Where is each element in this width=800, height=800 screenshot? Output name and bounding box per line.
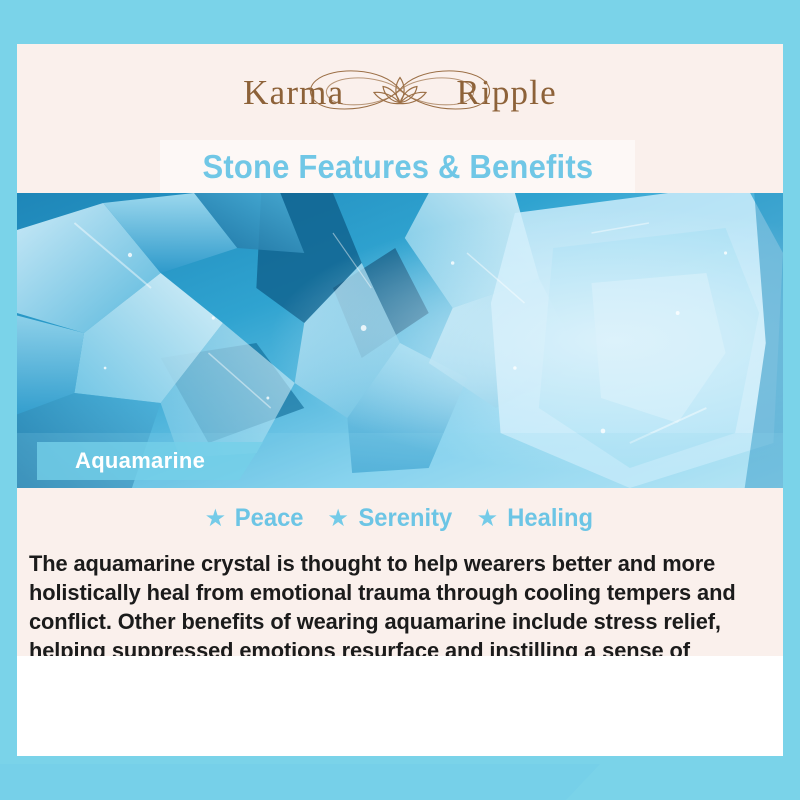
star-icon: ★ bbox=[477, 507, 499, 531]
keyword-item-healing: ★ Healing bbox=[477, 504, 596, 533]
star-icon: ★ bbox=[205, 507, 227, 531]
stone-name: Aquamarine bbox=[75, 448, 205, 474]
bottom-accent-bar bbox=[0, 764, 600, 800]
brand-header: Karma bbox=[17, 44, 783, 140]
keyword-label: Serenity bbox=[358, 504, 452, 533]
title-band: Stone Features & Benefits bbox=[17, 140, 783, 193]
keyword-item-peace: ★ Peace bbox=[205, 504, 306, 533]
poster-canvas: Karma bbox=[0, 0, 800, 800]
keyword-label: Healing bbox=[507, 504, 593, 533]
title-box: Stone Features & Benefits bbox=[160, 140, 635, 193]
brand-logo: Karma bbox=[243, 75, 557, 110]
content-card: Karma bbox=[17, 44, 783, 756]
aquamarine-crystal-photo: Aquamarine bbox=[17, 193, 783, 488]
star-icon: ★ bbox=[327, 507, 349, 531]
keyword-item-serenity: ★ Serenity bbox=[327, 504, 454, 533]
stone-name-banner: Aquamarine bbox=[37, 442, 263, 480]
lotus-infinity-icon bbox=[290, 61, 510, 124]
page-title: Stone Features & Benefits bbox=[202, 148, 593, 186]
keyword-label: Peace bbox=[235, 504, 304, 533]
keyword-list: ★ Peace ★ Serenity ★ Healing bbox=[17, 504, 783, 533]
bottom-white-panel bbox=[17, 656, 783, 756]
